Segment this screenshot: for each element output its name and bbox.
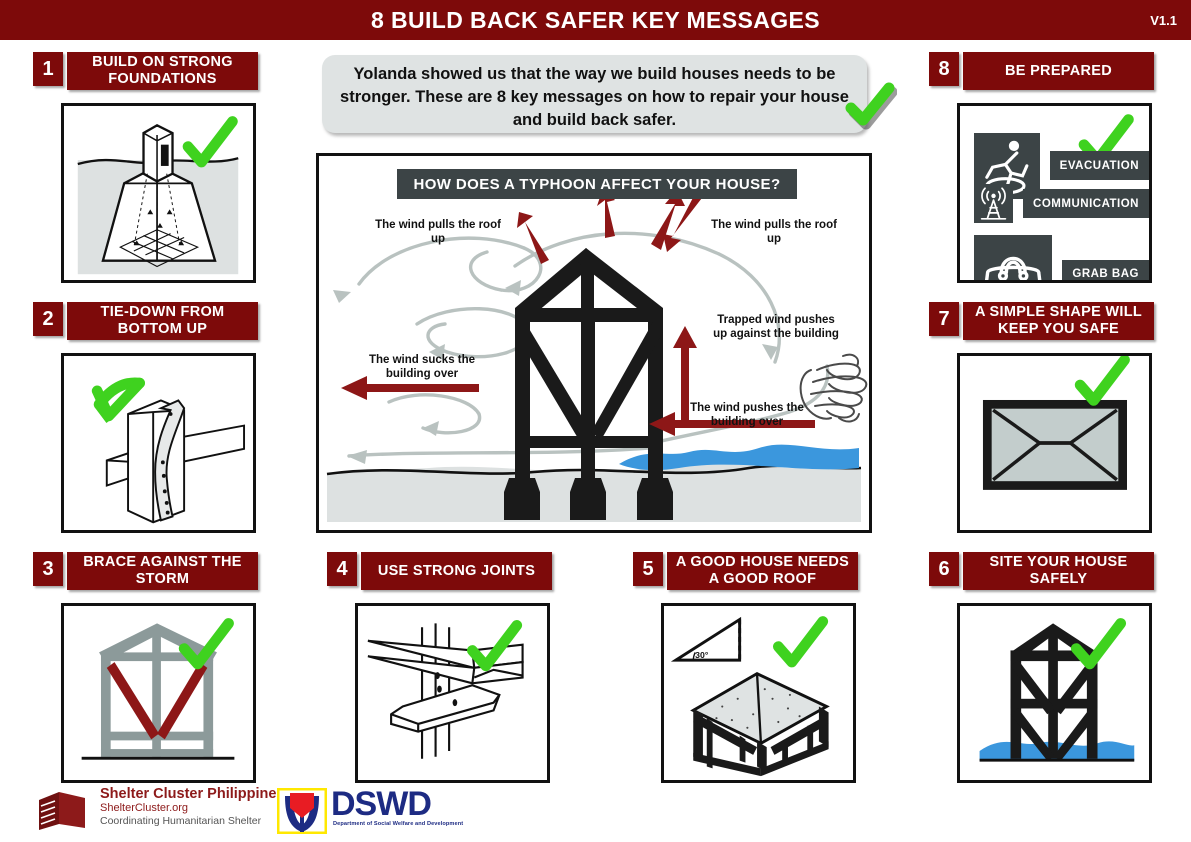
panel-5-angle-label: 30° (695, 650, 709, 660)
shelter-cluster-logo: Shelter Cluster Philippines ShelterClust… (33, 786, 263, 834)
check-icon-intro (845, 82, 897, 130)
shelter-cluster-tagline: Coordinating Humanitarian Shelter (100, 815, 300, 828)
prepared-label-communication: COMMUNICATION (1023, 189, 1149, 218)
panel-3-title: BRACE AGAINST THE STORM (67, 552, 258, 590)
label-wind-pulls-roof-left: The wind pulls the roof up (373, 218, 503, 246)
panel-1: 1 BUILD ON STRONG FOUNDATIONS (33, 52, 258, 90)
shelter-cluster-name: Shelter Cluster Philippines (100, 786, 300, 802)
page-header: 8 BUILD BACK SAFER KEY MESSAGES V1.1 (0, 0, 1191, 40)
radio-tower-icon (974, 184, 1013, 223)
panel-6-image (957, 603, 1152, 783)
panel-5-title: A GOOD HOUSE NEEDS A GOOD ROOF (667, 552, 858, 590)
label-wind-pulls-roof-right: The wind pulls the roof up (709, 218, 839, 246)
shelter-cluster-text: Shelter Cluster Philippines ShelterClust… (100, 786, 300, 828)
panel-7: 7 A SIMPLE SHAPE WILL KEEP YOU SAFE (929, 302, 1154, 340)
panel-2-image (61, 353, 256, 533)
panel-5-image: 30° (661, 603, 856, 783)
page-title: 8 BUILD BACK SAFER KEY MESSAGES (0, 0, 1191, 40)
dswd-subtitle: Department of Social Welfare and Develop… (333, 821, 463, 827)
panel-1-title: BUILD ON STRONG FOUNDATIONS (67, 52, 258, 90)
dswd-logo: DSWD Department of Social Welfare and De… (277, 788, 457, 834)
intro-text: Yolanda showed us that the way we build … (336, 63, 853, 132)
panel-4-image (355, 603, 550, 783)
dswd-emblem-icon (277, 788, 327, 834)
prepared-label-grab-bag: GRAB BAG (1062, 260, 1149, 283)
label-wind-sucks-building: The wind sucks the building over (355, 353, 489, 381)
panel-6: 6 SITE YOUR HOUSE SAFELY (929, 552, 1154, 590)
panel-7-title: A SIMPLE SHAPE WILL KEEP YOU SAFE (963, 302, 1154, 340)
shelter-cluster-url: ShelterCluster.org (100, 802, 300, 815)
diagram-title: HOW DOES A TYPHOON AFFECT YOUR HOUSE? (397, 169, 797, 199)
panel-3-number: 3 (33, 552, 63, 586)
dswd-wordmark: DSWD (331, 786, 431, 822)
panel-2-number: 2 (33, 302, 63, 336)
version-label: V1.1 (1150, 0, 1177, 40)
panel-5-number: 5 (633, 552, 663, 586)
panel-8-number: 8 (929, 52, 959, 86)
panel-2-title: TIE-DOWN FROM BOTTOM UP (67, 302, 258, 340)
prepared-row-communication: COMMUNICATION (974, 184, 1149, 223)
panel-4: 4 USE STRONG JOINTS (327, 552, 552, 590)
panel-7-image (957, 353, 1152, 533)
panel-6-title: SITE YOUR HOUSE SAFELY (963, 552, 1154, 590)
typhoon-diagram: HOW DOES A TYPHOON AFFECT YOUR HOUSE? Th… (316, 153, 872, 533)
panel-4-title: USE STRONG JOINTS (361, 552, 552, 590)
panel-3: 3 BRACE AGAINST THE STORM (33, 552, 258, 590)
panel-6-number: 6 (929, 552, 959, 586)
panel-1-image (61, 103, 256, 283)
label-wind-pushes-building: The wind pushes the building over (683, 401, 811, 429)
prepared-label-evacuation: EVACUATION (1050, 151, 1149, 180)
panel-3-image (61, 603, 256, 783)
panel-8: 8 BE PREPARED (929, 52, 1154, 90)
label-trapped-wind: Trapped wind pushes up against the build… (711, 313, 841, 341)
intro-banner: Yolanda showed us that the way we build … (322, 55, 867, 133)
typhoon-scene (319, 156, 869, 530)
grab-bag-icon (974, 235, 1052, 283)
panel-5: 5 A GOOD HOUSE NEEDS A GOOD ROOF (633, 552, 858, 590)
panel-4-number: 4 (327, 552, 357, 586)
prepared-row-grab-bag: GRAB BAG (974, 235, 1149, 283)
panel-8-image: EVACUATION COMMUNICATION (957, 103, 1152, 283)
panel-1-number: 1 (33, 52, 63, 86)
panel-7-number: 7 (929, 302, 959, 336)
panel-8-title: BE PREPARED (963, 52, 1154, 90)
panel-2: 2 TIE-DOWN FROM BOTTOM UP (33, 302, 258, 340)
shelter-roof-icon (33, 788, 91, 832)
